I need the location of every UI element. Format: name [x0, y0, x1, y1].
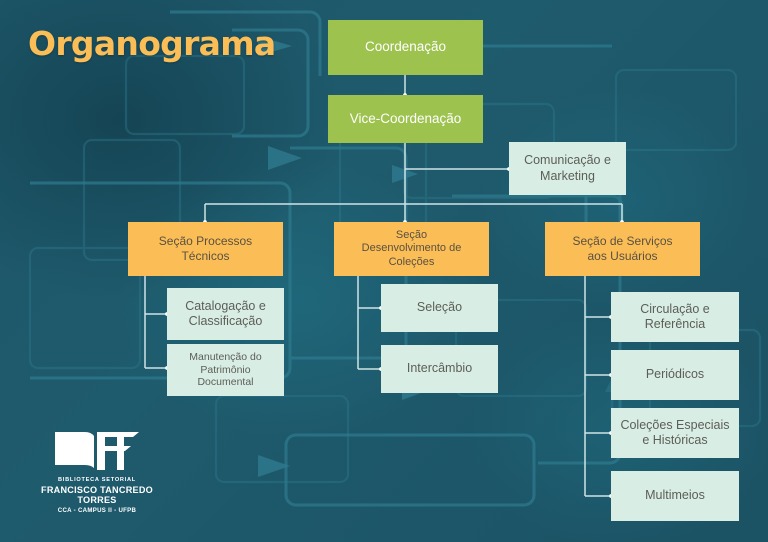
node-label-line2: Classificação — [189, 314, 263, 328]
node-label-line2: Técnicos — [181, 249, 229, 263]
node-label: Seção Desenvolvimento de Coleções — [362, 229, 462, 269]
node-label-line3: Coleções — [389, 256, 435, 268]
node-label-line1: Circulação e — [640, 302, 709, 316]
node-selecao[interactable]: Seleção — [381, 284, 498, 332]
logo-line-1: BIBLIOTECA SETORIAL — [33, 477, 161, 483]
node-label: Seção de Serviços aos Usuários — [572, 234, 672, 263]
node-label-line2: Marketing — [540, 169, 595, 183]
node-label-line1: Seção Processos — [159, 234, 252, 248]
node-label-line2: Desenvolvimento de — [362, 242, 462, 254]
node-label-line2: Referência — [645, 317, 705, 331]
node-intercambio[interactable]: Intercâmbio — [381, 345, 498, 393]
node-label-line1: Seção de Serviços — [572, 234, 672, 248]
node-periodicos[interactable]: Periódicos — [611, 350, 739, 400]
node-label: Coordenação — [365, 39, 446, 55]
node-label: Circulação e Referência — [640, 302, 709, 333]
node-manutencao-patrimonio-documental[interactable]: Manutenção do Patrimônio Documental — [167, 344, 284, 396]
node-label: Catalogação e Classificação — [185, 299, 266, 330]
node-label-line2: Patrimônio — [200, 364, 250, 376]
node-label-line1: Seção — [396, 229, 427, 241]
node-label-line3: Documental — [197, 376, 253, 388]
node-label-line2: aos Usuários — [587, 249, 657, 263]
logo-line-3: CCA - CAMPUS II - UFPB — [33, 507, 161, 514]
node-secao-servicos-usuarios[interactable]: Seção de Serviços aos Usuários — [545, 222, 700, 276]
organogram-slide: Organograma Coordenação Vice-Coordenação… — [0, 0, 768, 542]
library-logo: BIBLIOTECA SETORIAL FRANCISCO TANCREDO T… — [33, 424, 161, 514]
logo-line-2: FRANCISCO TANCREDO TORRES — [33, 485, 161, 505]
node-catalogacao-classificacao[interactable]: Catalogação e Classificação — [167, 288, 284, 340]
node-label: Comunicação e Marketing — [524, 153, 611, 184]
node-label-line1: Comunicação e — [524, 153, 611, 167]
node-label: Vice-Coordenação — [350, 111, 462, 127]
node-label: Periódicos — [646, 367, 704, 382]
node-coordenacao[interactable]: Coordenação — [328, 20, 483, 75]
node-comunicacao-marketing[interactable]: Comunicação e Marketing — [509, 142, 626, 195]
node-label-line1: Manutenção do — [189, 351, 261, 363]
node-label-line1: Catalogação e — [185, 299, 266, 313]
page-title: Organograma — [28, 24, 276, 63]
node-label: Multimeios — [645, 488, 705, 503]
node-circulacao-referencia[interactable]: Circulação e Referência — [611, 292, 739, 342]
node-label: Intercâmbio — [407, 361, 472, 376]
node-secao-processos-tecnicos[interactable]: Seção Processos Técnicos — [128, 222, 283, 276]
node-secao-desenvolvimento-colecoes[interactable]: Seção Desenvolvimento de Coleções — [334, 222, 489, 276]
node-label: Coleções Especiais e Históricas — [620, 418, 729, 449]
node-label: Seção Processos Técnicos — [159, 234, 252, 263]
node-label: Seleção — [417, 300, 462, 315]
node-label-line1: Coleções Especiais — [620, 418, 729, 432]
node-colecoes-especiais-historicas[interactable]: Coleções Especiais e Históricas — [611, 408, 739, 458]
node-multimeios[interactable]: Multimeios — [611, 471, 739, 521]
node-label-line2: e Históricas — [642, 433, 707, 447]
open-book-ftt-icon — [51, 424, 143, 474]
node-label: Manutenção do Patrimônio Documental — [189, 351, 261, 389]
node-vice-coordenacao[interactable]: Vice-Coordenação — [328, 95, 483, 143]
